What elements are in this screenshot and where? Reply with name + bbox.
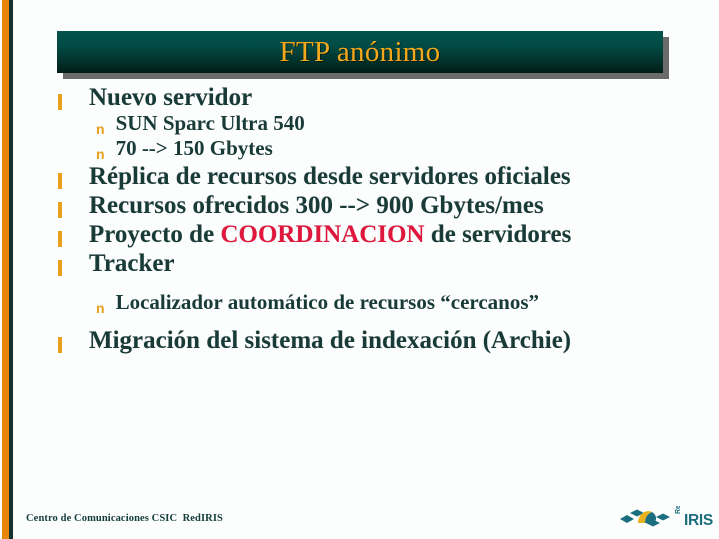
square-bullet-icon [58,260,62,276]
bullet-text: Localizador automático de recursos “cerc… [116,291,539,314]
bullet-item-proyecto-coordinacion: Proyecto de COORDINACION de servidores [0,221,719,248]
bullet-item-migracion: Migración del sistema de indexación (Arc… [0,327,719,354]
square-bullet-icon [58,202,62,218]
square-bullet-icon [58,231,62,247]
bullet-item-gbytes: n 70 --> 150 Gbytes [0,137,719,161]
n-bullet-icon: n [96,301,105,315]
bullet-text-composite: Proyecto de COORDINACION de servidores [89,221,571,248]
square-bullet-icon [58,94,62,110]
logo-word-iris: IRIS [684,512,713,529]
bullet-text: Recursos ofrecidos 300 --> 900 Gbytes/me… [89,192,544,219]
bullet-item-nuevo-servidor: Nuevo servidor [0,84,719,111]
bullet-item-recursos-ofrecidos: Recursos ofrecidos 300 --> 900 Gbytes/me… [0,192,719,219]
page-title: FTP anónimo [280,36,441,69]
bullet-text-post: de servidores [425,221,572,248]
bullet-text: Tracker [89,250,175,277]
n-bullet-icon: n [96,122,105,136]
footer-credit: Centro de Comunicaciones CSIC RedIRIS [26,513,223,524]
bullet-item-tracker: Tracker [0,250,719,277]
slide-title-banner: FTP anónimo [57,31,663,73]
bullet-text: Nuevo servidor [89,84,252,111]
rediris-logo: Red IRIS [618,506,714,536]
bullet-text-pre: Proyecto de [89,221,220,248]
rediris-logo-mark: Red IRIS [618,506,714,536]
bullet-item-localizador: n Localizador automático de recursos “ce… [0,291,719,315]
bullet-text: Réplica de recursos desde servidores ofi… [89,163,571,190]
presentation-slide: FTP anónimo Nuevo servidor n SUN Sparc U… [0,0,719,539]
logo-word-red: Red [675,506,682,514]
bullet-text-highlight: COORDINACION [220,221,424,248]
n-bullet-icon: n [96,147,105,161]
square-bullet-icon [58,173,62,189]
square-bullet-icon [58,337,62,353]
bullet-item-sun-sparc: n SUN Sparc Ultra 540 [0,112,719,136]
bullet-item-replica: Réplica de recursos desde servidores ofi… [0,163,719,190]
bullet-text: Migración del sistema de indexación (Arc… [89,327,571,354]
bullet-text: SUN Sparc Ultra 540 [116,112,305,135]
slide-body: Nuevo servidor n SUN Sparc Ultra 540 n 7… [0,82,719,354]
bullet-text: 70 --> 150 Gbytes [116,137,273,160]
